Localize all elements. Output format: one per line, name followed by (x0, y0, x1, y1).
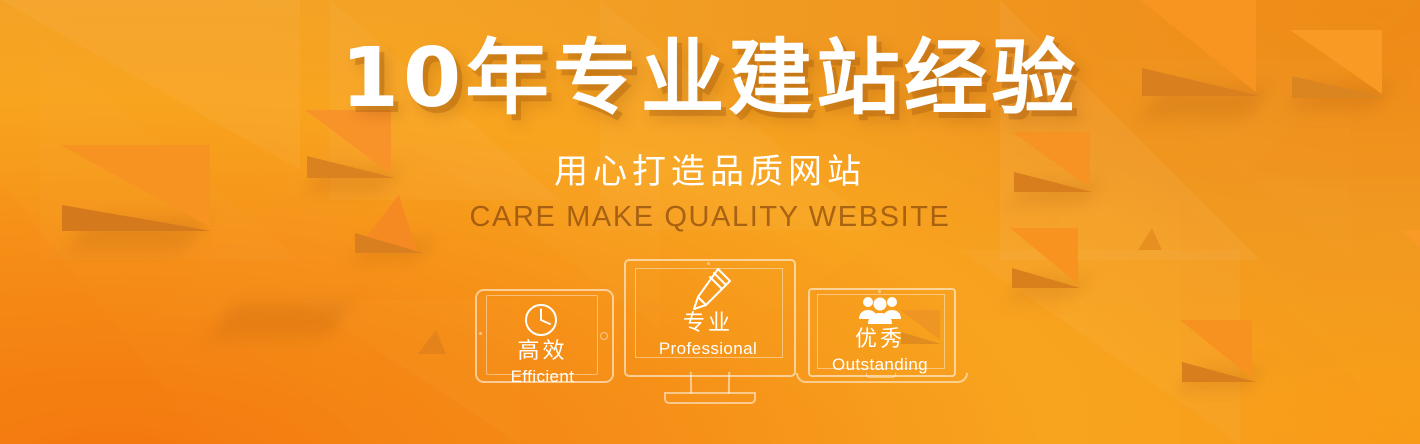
feature-label-cn: 高效 (517, 340, 567, 364)
feature-labels-professional: 专业 Professional (624, 312, 792, 359)
laptop-camera-dot (878, 290, 881, 293)
clock-icon (521, 300, 561, 340)
feature-label-cn: 优秀 (855, 328, 905, 352)
tablet-home-button (600, 332, 608, 340)
feature-label-en: Efficient (511, 367, 575, 387)
tablet-camera-dot (479, 332, 482, 335)
promo-banner: 10年专业建站经验 用心打造品质网站 CARE MAKE QUALITY WEB… (0, 0, 1420, 444)
pencil-icon (687, 264, 735, 316)
feature-label-en: Outstanding (832, 355, 928, 375)
feature-labels-outstanding: 优秀 Outstanding (808, 328, 952, 375)
people-group-icon (858, 294, 902, 328)
feature-label-cn: 专业 (683, 312, 733, 336)
feature-label-en: Professional (659, 339, 757, 359)
feature-devices: 高效 Efficient (0, 0, 1420, 444)
monitor-stand-base (664, 392, 756, 404)
monitor-stand-neck (690, 372, 730, 394)
feature-labels-efficient: 高效 Efficient (475, 340, 610, 387)
